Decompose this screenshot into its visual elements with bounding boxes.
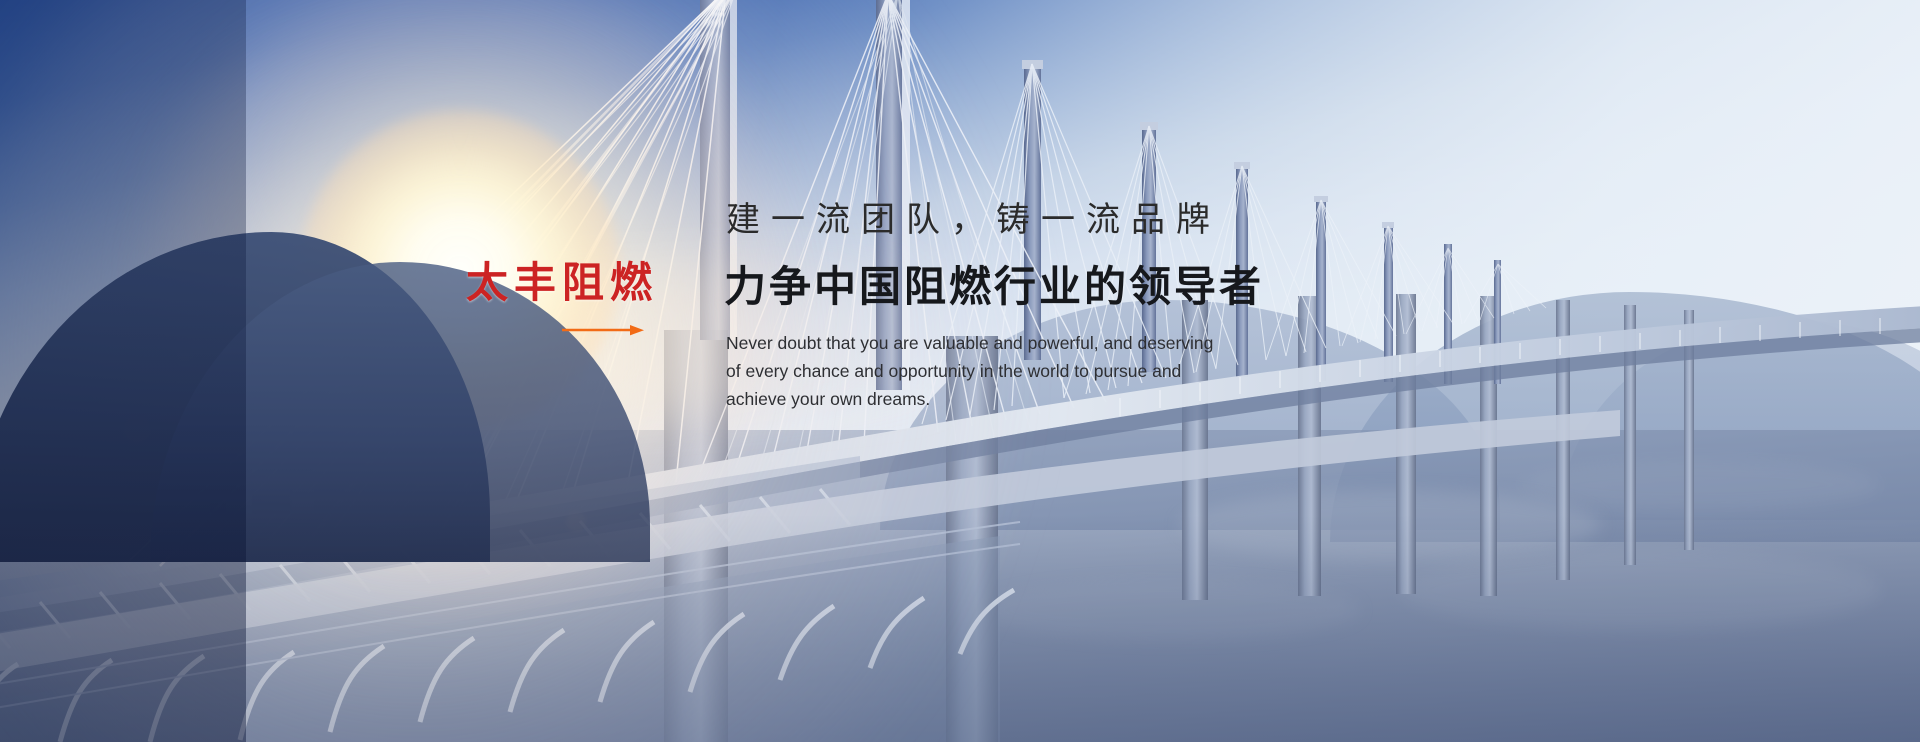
arrow-right-icon [562, 324, 644, 336]
banner-content: 太丰阻燃 建一流团队，铸一流品牌 力争中国阻燃行业的领导者 Never doub… [0, 0, 1920, 742]
headline-primary: 建一流团队，铸一流品牌 [726, 192, 1221, 241]
headline-secondary: 力争中国阻燃行业的领导者 [724, 253, 1264, 314]
brand-logo-text: 太丰阻燃 [466, 262, 666, 304]
brand-logo[interactable]: 太丰阻燃 [466, 262, 666, 304]
hero-banner: 太丰阻燃 建一流团队，铸一流品牌 力争中国阻燃行业的领导者 Never doub… [0, 0, 1920, 742]
banner-subtext: Never doubt that you are valuable and po… [726, 329, 1326, 413]
